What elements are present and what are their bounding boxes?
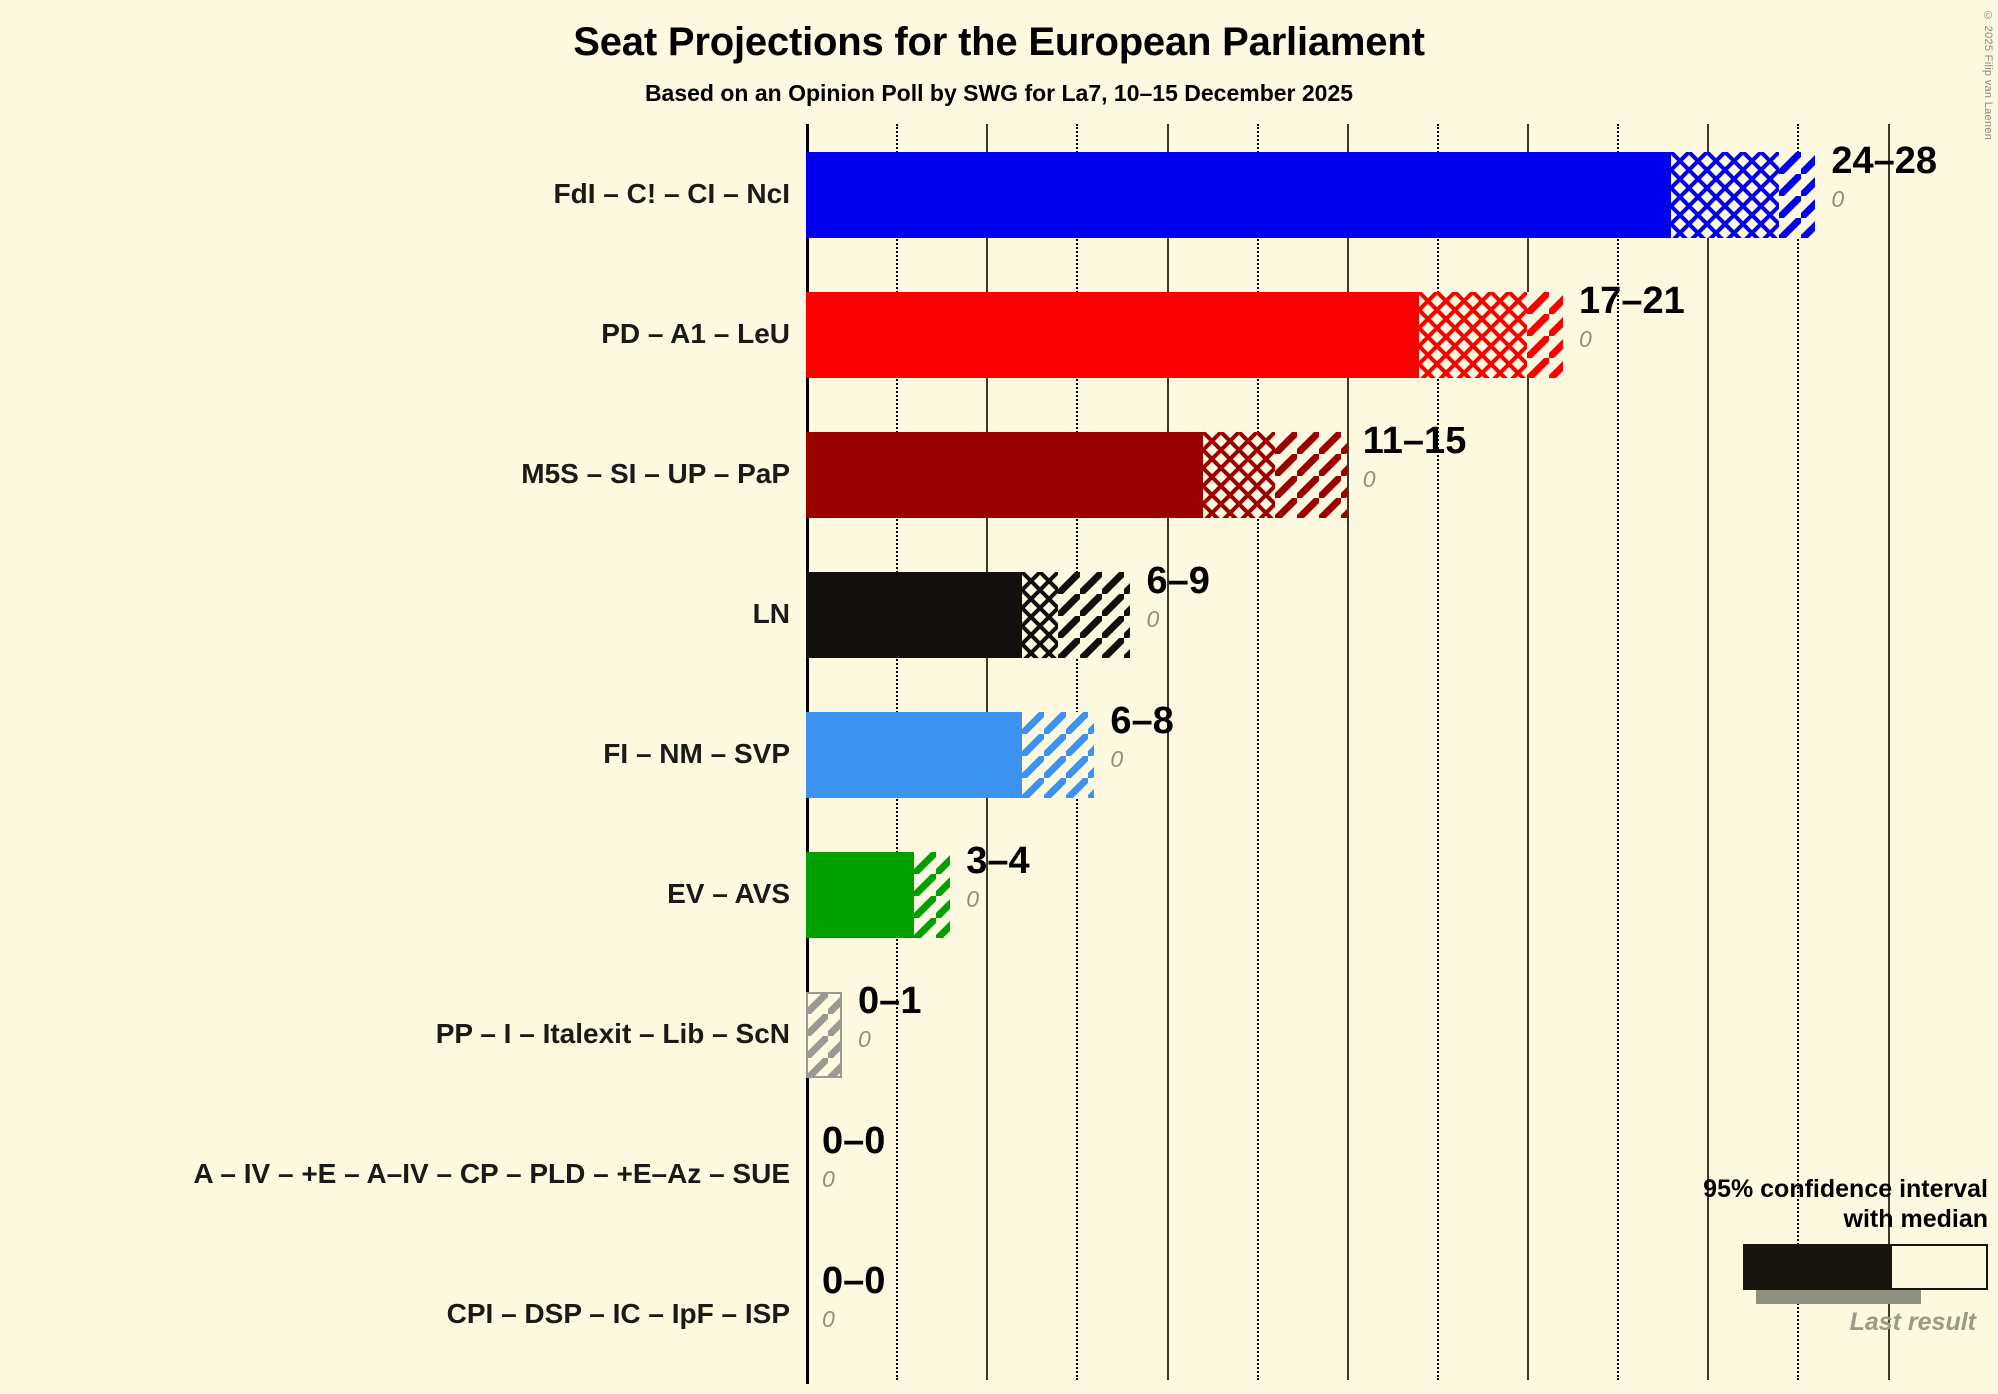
bar-row-label: PP – I – Italexit – Lib – ScN	[436, 964, 790, 1104]
bar-segment-solid	[806, 292, 1419, 378]
bar-value-last-result: 0	[1579, 328, 1685, 351]
bar-value-group: 0–00	[822, 1262, 885, 1331]
bar-segment-solid	[806, 572, 1022, 658]
bar-row-label: M5S – SI – UP – PaP	[521, 404, 790, 544]
bar-value-group: 6–90	[1146, 562, 1209, 631]
bar-row: PD – A1 – LeU17–210	[0, 264, 1998, 404]
legend-line-2: with median	[1588, 1205, 1988, 1235]
bar-segment-crosshatch	[1203, 432, 1275, 518]
bar-segment-crosshatch	[1022, 572, 1058, 658]
bar-segment-solid	[806, 152, 1671, 238]
bar-row: EV – AVS3–40	[0, 824, 1998, 964]
bar-value-group: 11–150	[1363, 422, 1467, 491]
legend-crosshatch-segment	[1892, 1246, 1945, 1288]
bar-value-range: 24–28	[1831, 142, 1937, 180]
bar-segment-solid	[806, 852, 914, 938]
bar-segment-crosshatch	[1671, 152, 1779, 238]
bar-row: FI – NM – SVP6–80	[0, 684, 1998, 824]
bar-segment-diagonal	[914, 852, 950, 938]
chart-root: Seat Projections for the European Parlia…	[0, 0, 1998, 1394]
bar-row: PP – I – Italexit – Lib – ScN0–10	[0, 964, 1998, 1104]
legend-solid-segment	[1745, 1246, 1892, 1288]
legend: 95% confidence interval with median Last…	[1588, 1175, 1988, 1337]
bar-value-last-result: 0	[1146, 608, 1209, 631]
bar-value-group: 0–00	[822, 1122, 885, 1191]
legend-last-result-label: Last result	[1588, 1308, 1976, 1337]
legend-last-result-swatch	[1756, 1290, 1921, 1304]
bar-segment-diagonal	[1527, 292, 1563, 378]
legend-sample-bar	[1743, 1244, 1988, 1290]
bar-row: LN6–90	[0, 544, 1998, 684]
bar-row-label: CPI – DSP – IC – IpF – ISP	[447, 1244, 790, 1384]
bar-segment-diagonal	[1022, 712, 1094, 798]
bar-segment-diagonal	[1275, 432, 1347, 518]
bar-row: FdI – C! – CI – NcI24–280	[0, 124, 1998, 264]
bar-row: M5S – SI – UP – PaP11–150	[0, 404, 1998, 544]
bar-value-range: 3–4	[966, 842, 1029, 880]
bar	[806, 432, 1347, 518]
bar-segment-crosshatch	[1419, 292, 1527, 378]
bar-value-last-result: 0	[966, 888, 1029, 911]
legend-line-1: 95% confidence interval	[1588, 1175, 1988, 1205]
bar-value-group: 0–10	[858, 982, 921, 1051]
bar	[806, 292, 1563, 378]
bar-value-range: 6–9	[1146, 562, 1209, 600]
bar-value-range: 17–21	[1579, 282, 1685, 320]
bar	[806, 572, 1130, 658]
bar-segment-solid	[806, 432, 1203, 518]
bar-row-label: FdI – C! – CI – NcI	[554, 124, 791, 264]
bar-value-group: 6–80	[1110, 702, 1173, 771]
bar-row-label: EV – AVS	[667, 824, 790, 964]
bar-value-last-result: 0	[1363, 468, 1467, 491]
bar	[806, 712, 1094, 798]
bar-value-range: 11–15	[1363, 422, 1467, 460]
bar-value-last-result: 0	[822, 1308, 885, 1331]
legend-title: 95% confidence interval with median	[1588, 1175, 1988, 1234]
bar	[806, 152, 1815, 238]
bar-value-range: 0–1	[858, 982, 921, 1020]
bar-value-last-result: 0	[858, 1028, 921, 1051]
bar-row-label: A – IV – +E – A–IV – CP – PLD – +E–Az – …	[193, 1104, 790, 1244]
bar-segment-solid	[806, 712, 1022, 798]
bar-row-label: LN	[753, 544, 790, 684]
bar-value-last-result: 0	[1831, 188, 1937, 211]
legend-diagonal-segment	[1945, 1246, 1986, 1288]
bar	[806, 852, 950, 938]
bar-value-range: 6–8	[1110, 702, 1173, 740]
bar-segment-diagonal	[1779, 152, 1815, 238]
bar-value-group: 17–210	[1579, 282, 1685, 351]
bar-row-label: FI – NM – SVP	[603, 684, 790, 824]
bar-value-range: 0–0	[822, 1122, 885, 1160]
bar-row-label: PD – A1 – LeU	[601, 264, 790, 404]
bar-value-last-result: 0	[1110, 748, 1173, 771]
bar-value-range: 0–0	[822, 1262, 885, 1300]
bar-value-last-result: 0	[822, 1168, 885, 1191]
bar-value-group: 3–40	[966, 842, 1029, 911]
bar-outline	[806, 992, 842, 1078]
bar-segment-diagonal	[1058, 572, 1130, 658]
bar-value-group: 24–280	[1831, 142, 1937, 211]
